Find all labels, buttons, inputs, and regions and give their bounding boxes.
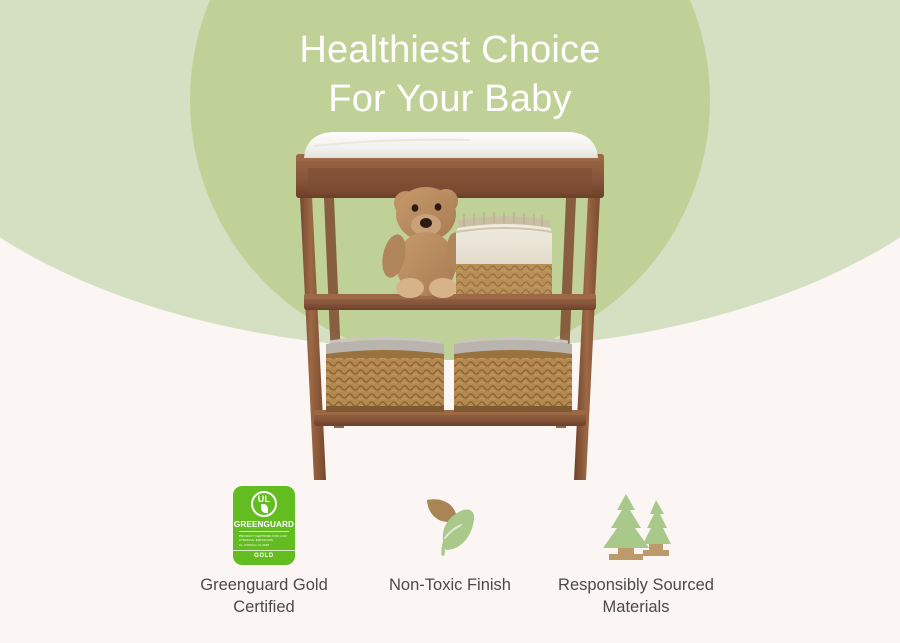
trees-icon	[593, 484, 679, 566]
rope-basket	[456, 212, 552, 294]
greenguard-tier-label: GOLD	[233, 550, 295, 559]
badge-responsibly-sourced: Responsibly Sourced Materials	[543, 484, 729, 619]
headline-line-1: Healthiest Choice	[299, 29, 600, 71]
certification-badges: UL GREENGUARD PRODUCT CERTIFIED FOR LOW …	[0, 484, 900, 619]
leaf-icon	[413, 484, 487, 566]
headline-line-2: For Your Baby	[0, 75, 900, 124]
ul-mark-label: UL	[253, 495, 275, 504]
badge-greenguard-gold: UL GREENGUARD PRODUCT CERTIFIED FOR LOW …	[171, 484, 357, 619]
ul-sprout-icon	[261, 504, 268, 513]
greenguard-gold-seal-icon: UL GREENGUARD PRODUCT CERTIFIED FOR LOW …	[233, 484, 295, 566]
badge-caption: Greenguard Gold Certified	[174, 575, 354, 619]
storage-basket-left	[326, 338, 444, 412]
ul-mark-icon: UL	[251, 491, 277, 517]
changing-pad	[304, 132, 598, 158]
page-title: Healthiest Choice For Your Baby	[0, 26, 900, 123]
storage-basket-right	[454, 338, 572, 412]
badge-caption: Non-Toxic Finish	[389, 575, 511, 597]
greenguard-wordmark: GREENGUARD	[234, 520, 294, 529]
seal-divider	[239, 531, 289, 532]
product-image	[270, 128, 630, 486]
promo-banner: Healthiest Choice For Your Baby	[0, 0, 900, 643]
bottom-shelf	[314, 410, 586, 426]
greenguard-fine-print: PRODUCT CERTIFIED FOR LOW CHEMICAL EMISS…	[239, 534, 289, 548]
badge-caption: Responsibly Sourced Materials	[546, 575, 726, 619]
badge-non-toxic-finish: Non-Toxic Finish	[357, 484, 543, 597]
